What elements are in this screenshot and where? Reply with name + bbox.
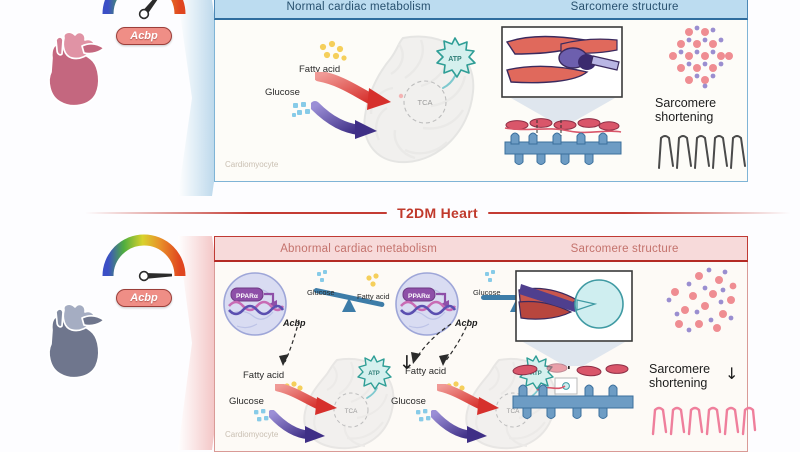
normal-panel-body: TCA ATP Fatty acid bbox=[214, 20, 748, 182]
t2dm-panel: Abnormal cardiac metabolism Sarcomere st… bbox=[214, 236, 748, 452]
t2dm-right-glucose-flux-arrow bbox=[431, 410, 495, 444]
normal-fatty-acid-icon bbox=[315, 40, 349, 66]
t2dm-right-glucose-label: Glucose bbox=[391, 396, 426, 407]
normal-sarcomere-inset bbox=[501, 26, 623, 98]
t2dm-left-tca-label: TCA bbox=[345, 408, 359, 415]
t2dm-sarcomere-caption: Sarcomere shortening bbox=[649, 362, 710, 390]
figure-canvas: Acbp Normal cardiac metabolism Sarcomere… bbox=[0, 0, 800, 450]
normal-acbp-badge: Acbp bbox=[116, 27, 172, 45]
t2dm-sarcomere-filaments-disrupted bbox=[511, 360, 635, 422]
t2dm-contraction-trace bbox=[649, 402, 757, 440]
normal-panel: Normal cardiac metabolism Sarcomere stru… bbox=[214, 0, 748, 182]
normal-myofilament-lattice-ordered bbox=[663, 24, 741, 96]
normal-acbp-gauge-group: Acbp bbox=[98, 0, 190, 45]
normal-tca-label: TCA bbox=[418, 98, 433, 107]
normal-sarcomere-caption: Sarcomere shortening bbox=[655, 96, 716, 124]
t2dm-right-fatty-acid-label: Fatty acid bbox=[405, 366, 446, 377]
t2dm-cardiomyocyte-label: Cardiomyocyte bbox=[225, 430, 278, 439]
t2dm-sarcomere-caption-line2: shortening bbox=[649, 376, 707, 390]
t2dm-myofilament-lattice-disordered bbox=[663, 266, 747, 338]
t2dm-acbp-badge: Acbp bbox=[116, 289, 172, 307]
gauge-icon bbox=[98, 232, 190, 282]
t2dm-panel-header-metabolism: Abnormal cardiac metabolism bbox=[215, 243, 502, 255]
t2dm-ppara-right-label: PPARα bbox=[408, 293, 430, 300]
t2dm-ppara-left-label: PPARα bbox=[236, 293, 258, 300]
t2dm-acbp-gauge-group: Acbp bbox=[98, 232, 190, 307]
normal-sarcomere-filaments bbox=[503, 116, 623, 168]
t2dm-panel-header-sarcomere: Sarcomere structure bbox=[502, 243, 747, 255]
section-divider: T2DM Heart bbox=[85, 196, 790, 230]
normal-sarcomere-caption-line1: Sarcomere bbox=[655, 96, 716, 110]
normal-sarcomere-caption-line2: shortening bbox=[655, 110, 713, 124]
svg-text:ATP: ATP bbox=[368, 371, 380, 377]
t2dm-left-glucose-label: Glucose bbox=[229, 396, 264, 407]
gauge-icon bbox=[98, 0, 190, 20]
normal-panel-header-metabolism: Normal cardiac metabolism bbox=[215, 1, 502, 13]
t2dm-balance-left-glucose-label: Glucose bbox=[307, 288, 335, 297]
t2dm-balance-left-fattyacid-label: Fatty acid bbox=[357, 292, 390, 301]
normal-contraction-trace bbox=[655, 132, 755, 170]
normal-panel-header: Normal cardiac metabolism Sarcomere stru… bbox=[214, 0, 748, 20]
t2dm-left-glucose-flux-arrow bbox=[269, 410, 333, 444]
t2dm-panel-body: PPARα Acbp bbox=[214, 262, 748, 452]
divider-title: T2DM Heart bbox=[397, 205, 478, 221]
t2dm-left-fatty-acid-label: Fatty acid bbox=[243, 370, 284, 381]
healthy-heart-icon bbox=[38, 28, 110, 119]
t2dm-heart-icon bbox=[38, 300, 110, 391]
normal-glucose-label: Glucose bbox=[265, 87, 300, 98]
t2dm-sarcomere-trend-arrow: ↓ bbox=[725, 366, 738, 382]
svg-text:ATP: ATP bbox=[448, 56, 462, 63]
t2dm-panel-header: Abnormal cardiac metabolism Sarcomere st… bbox=[214, 236, 748, 262]
normal-cardiomyocyte-label: Cardiomyocyte bbox=[225, 160, 278, 169]
divider-rule-left bbox=[85, 212, 387, 214]
t2dm-sarcomere-inset bbox=[515, 270, 633, 342]
divider-rule-right bbox=[488, 212, 790, 214]
normal-panel-header-sarcomere: Sarcomere structure bbox=[502, 1, 747, 13]
t2dm-balance-right-glucose-label: Glucose bbox=[473, 288, 501, 297]
normal-glucose-flux-arrow bbox=[311, 100, 387, 140]
t2dm-sarcomere-caption-line1: Sarcomere bbox=[649, 362, 710, 376]
